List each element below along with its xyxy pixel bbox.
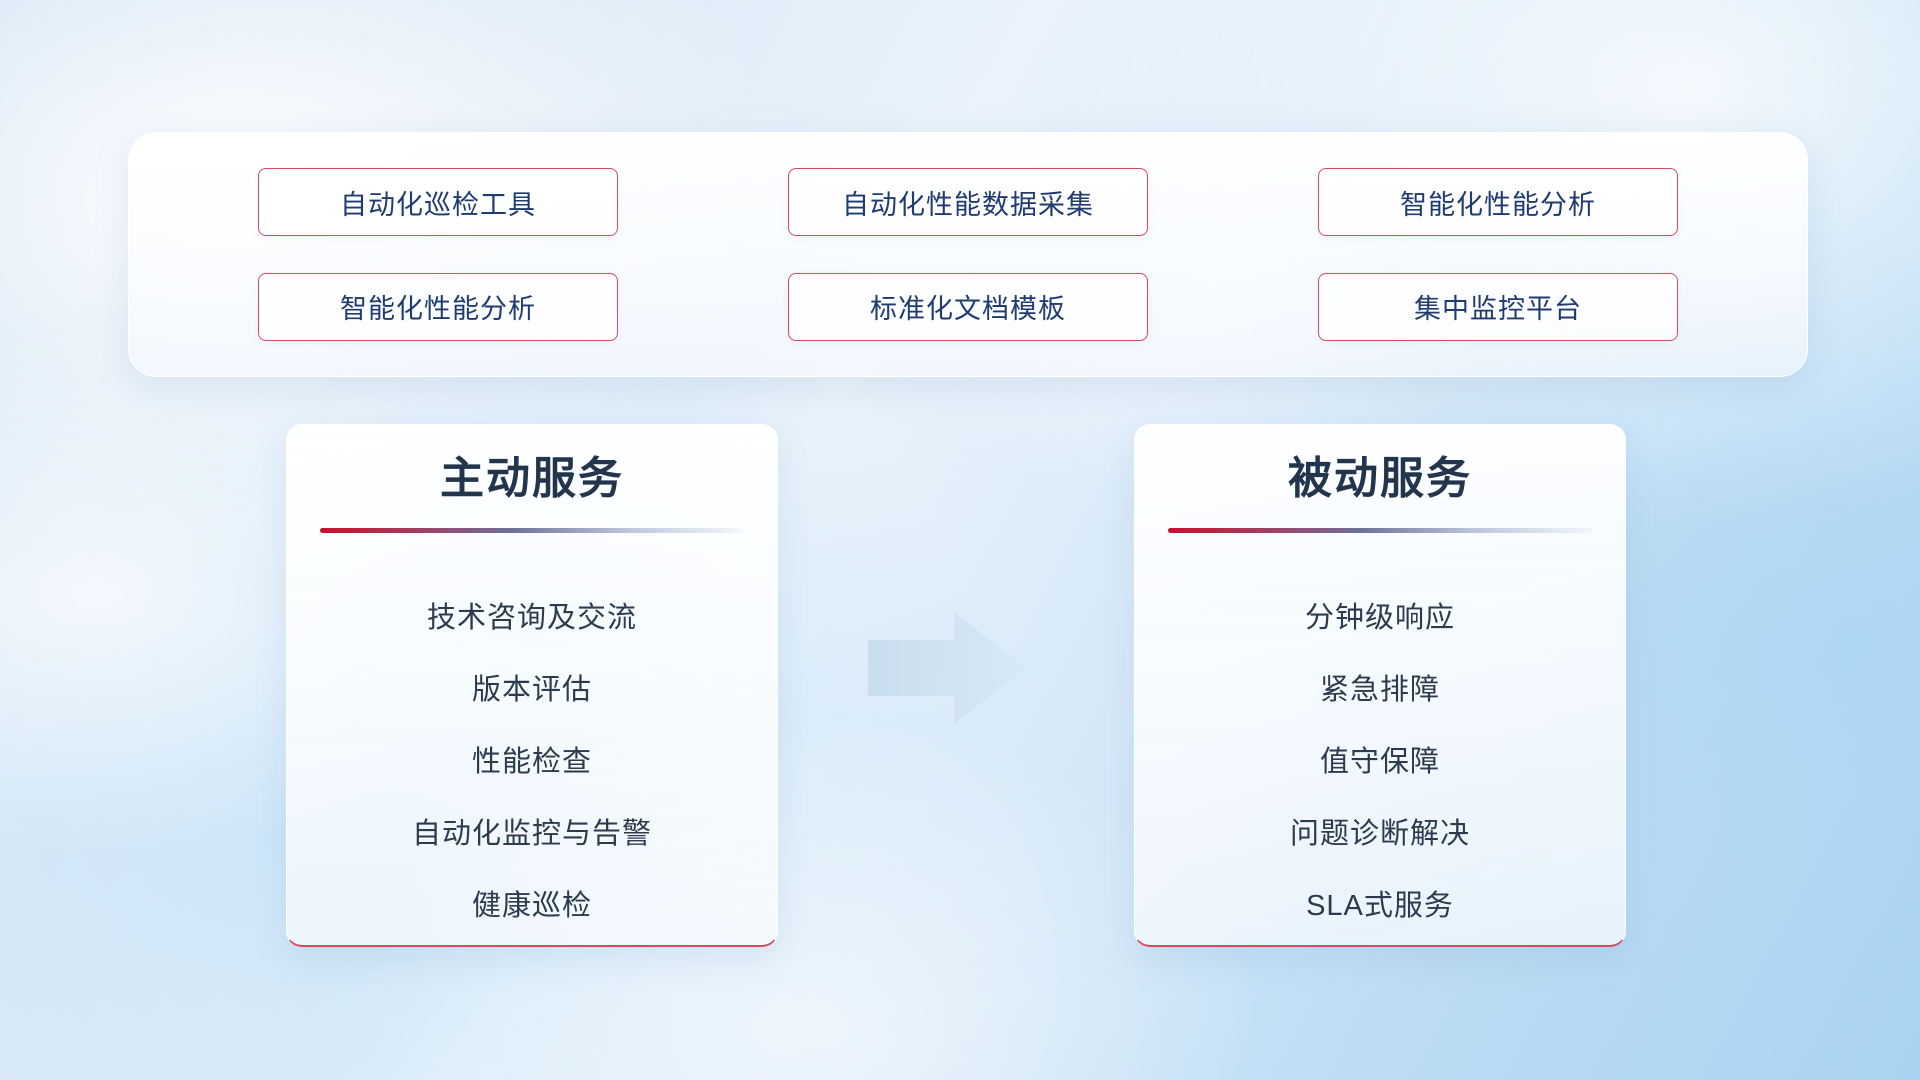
proactive-service-card: 主动服务 技术咨询及交流 版本评估 性能检查 自动化监控与告警 健康巡检	[286, 424, 778, 947]
list-item: 紧急排障	[1135, 651, 1625, 723]
capability-chip-label: 自动化性能数据采集	[842, 183, 1094, 222]
title-divider	[1168, 528, 1592, 533]
list-item: 自动化监控与告警	[287, 795, 777, 867]
list-item: 问题诊断解决	[1135, 795, 1625, 867]
proactive-service-list: 技术咨询及交流 版本评估 性能检查 自动化监控与告警 健康巡检	[287, 579, 777, 939]
capability-chip[interactable]: 标准化文档模板	[788, 273, 1148, 341]
capability-chip-label: 智能化性能分析	[340, 287, 536, 326]
capability-chip[interactable]: 集中监控平台	[1318, 273, 1678, 341]
capability-chip[interactable]: 自动化性能数据采集	[788, 168, 1148, 236]
capability-chip-label: 集中监控平台	[1414, 287, 1582, 326]
capability-chip-label: 智能化性能分析	[1400, 183, 1596, 222]
capability-chip[interactable]: 自动化巡检工具	[258, 168, 618, 236]
reactive-service-list: 分钟级响应 紧急排障 值守保障 问题诊断解决 SLA式服务	[1135, 579, 1625, 939]
list-item: 分钟级响应	[1135, 579, 1625, 651]
capability-panel: 自动化巡检工具 自动化性能数据采集 智能化性能分析 智能化性能分析 标准化文档模…	[128, 132, 1808, 377]
proactive-service-title: 主动服务	[287, 453, 777, 506]
list-item: 健康巡检	[287, 867, 777, 939]
reactive-service-title: 被动服务	[1135, 453, 1625, 506]
list-item: 性能检查	[287, 723, 777, 795]
reactive-service-card: 被动服务 分钟级响应 紧急排障 值守保障 问题诊断解决 SLA式服务	[1134, 424, 1626, 947]
list-item: 值守保障	[1135, 723, 1625, 795]
capability-chip-label: 标准化文档模板	[870, 287, 1066, 326]
capability-chip-label: 自动化巡检工具	[340, 183, 536, 222]
list-item: SLA式服务	[1135, 867, 1625, 939]
list-item: 版本评估	[287, 651, 777, 723]
list-item: 技术咨询及交流	[287, 579, 777, 651]
capability-chip[interactable]: 智能化性能分析	[1318, 168, 1678, 236]
capability-chip[interactable]: 智能化性能分析	[258, 273, 618, 341]
title-divider	[320, 528, 744, 533]
right-arrow-icon	[868, 612, 1026, 724]
